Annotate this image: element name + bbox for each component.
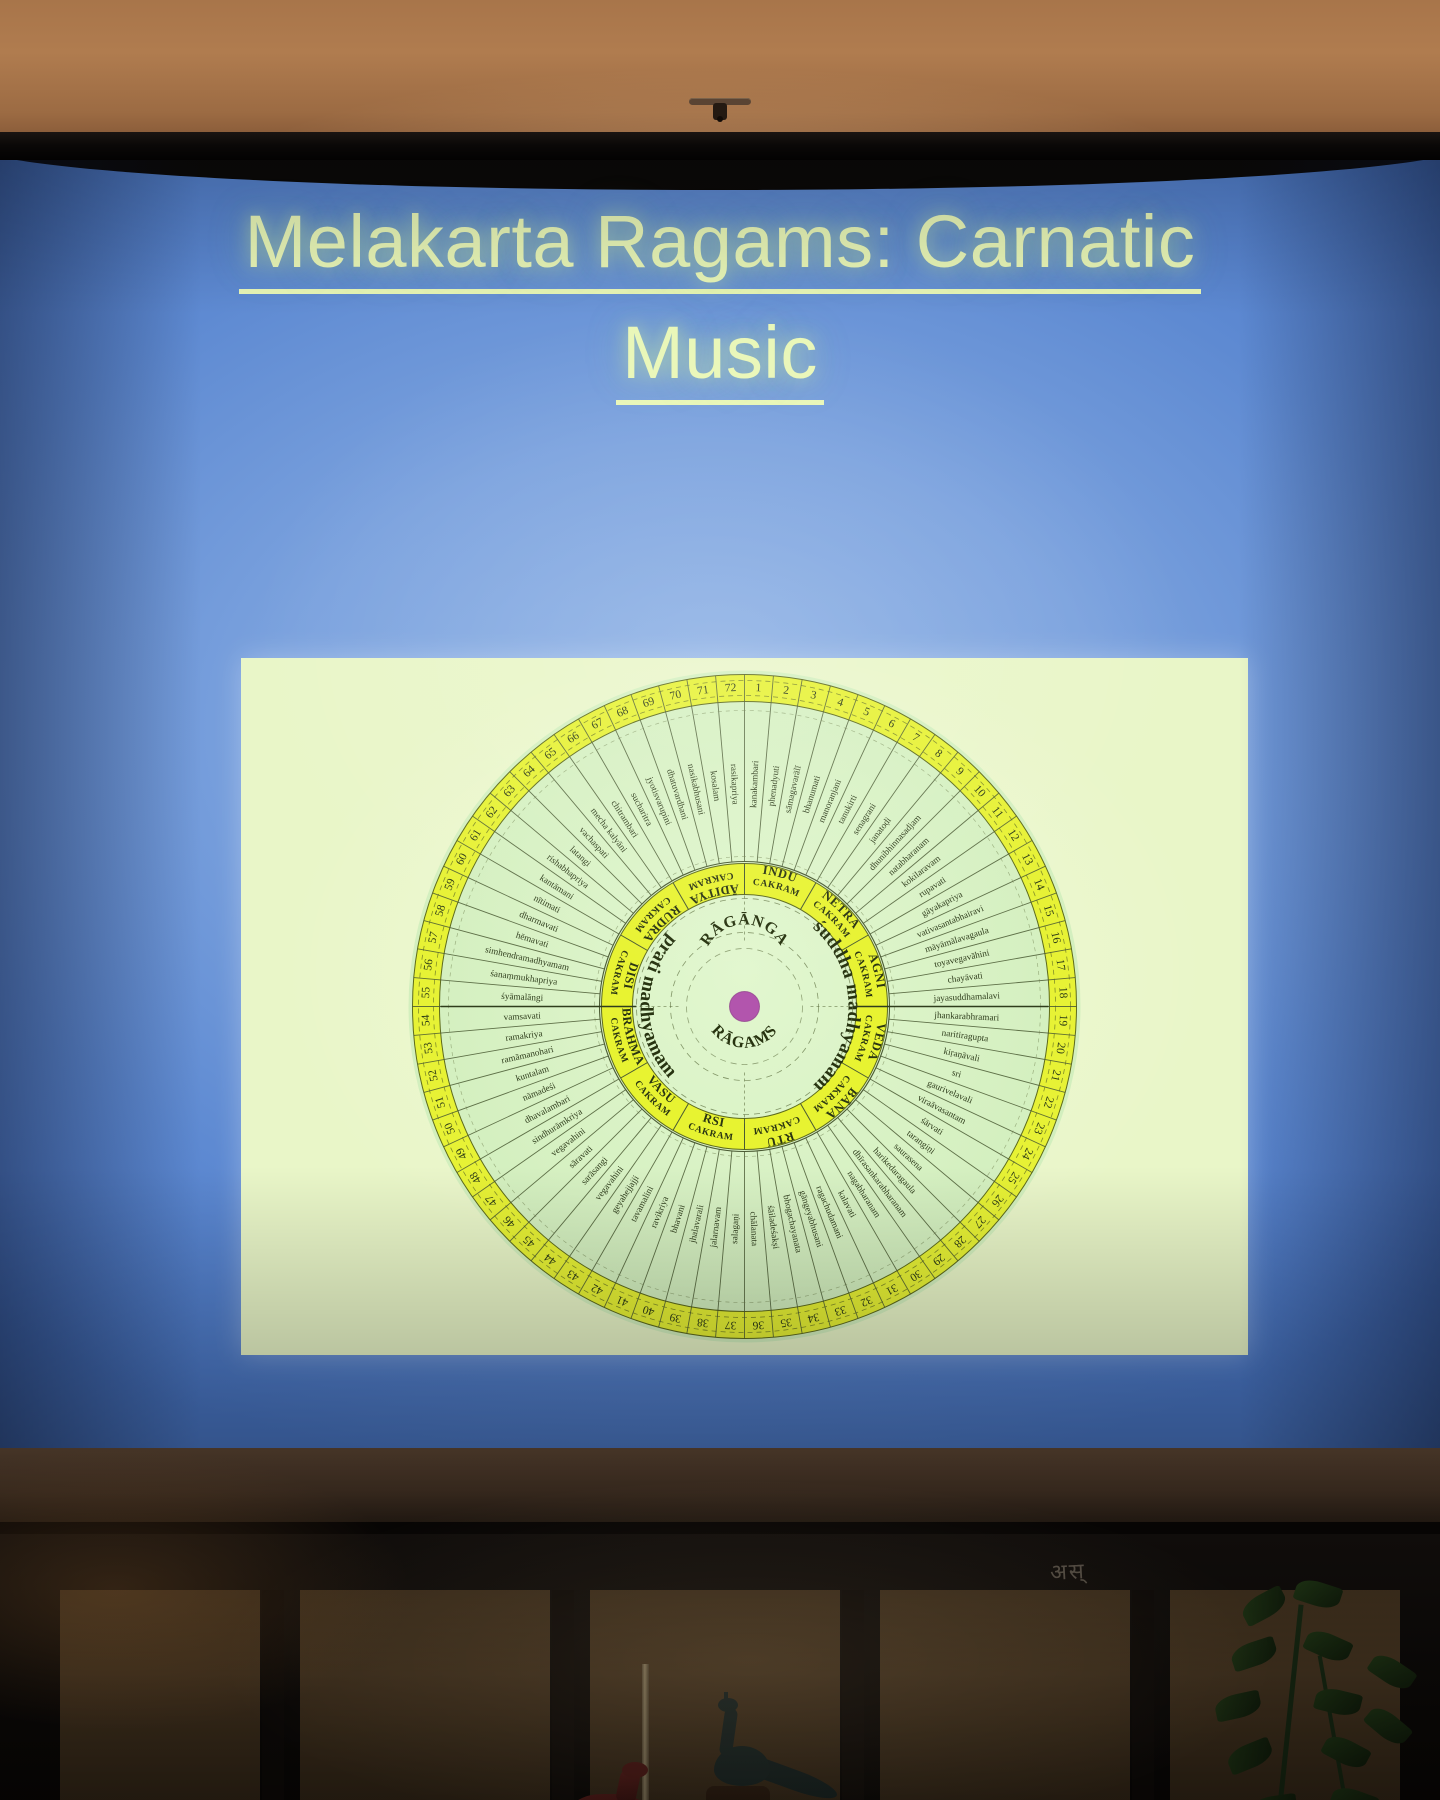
room-shadow-overlay bbox=[0, 1448, 1440, 1800]
screen-mount-bracket bbox=[689, 96, 751, 118]
room-foreground: अस् bbox=[0, 1448, 1440, 1800]
projection-screen: Melakarta Ragams: Carnatic Music kanakam… bbox=[0, 160, 1440, 1450]
screen-shading bbox=[0, 160, 1440, 1450]
ceiling-light-glow bbox=[0, 0, 1440, 150]
photo-of-projected-slide: Melakarta Ragams: Carnatic Music kanakam… bbox=[0, 0, 1440, 1800]
